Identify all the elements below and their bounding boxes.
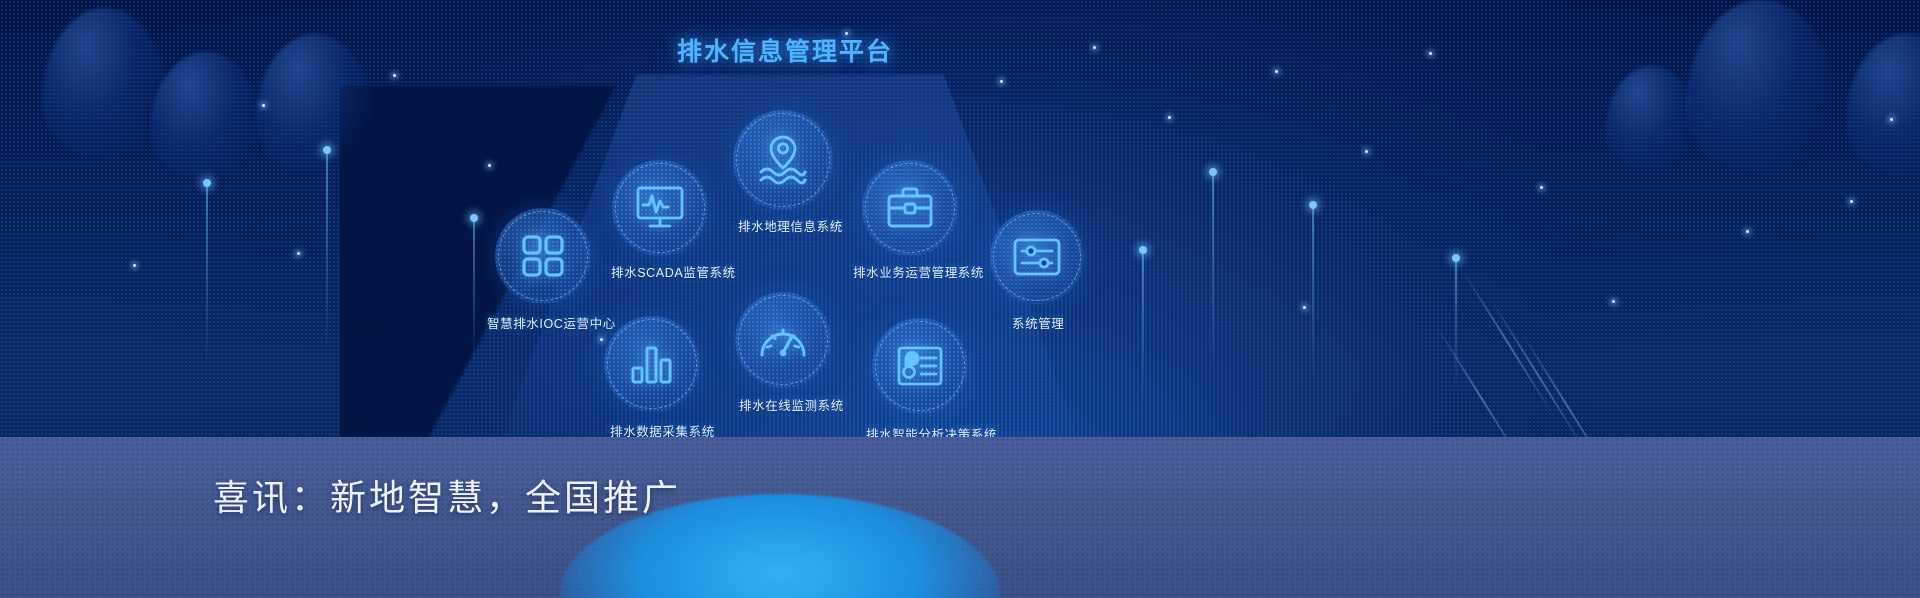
node-label-scada: 排水SCADA监管系统 [611,262,736,281]
decor-star [1168,116,1171,119]
decor-star [1850,200,1853,203]
system-node-sysadmin[interactable] [990,210,1084,304]
node-label-sysadmin: 系统管理 [1012,313,1064,332]
decor-star [600,338,603,341]
system-node-scada[interactable] [612,160,708,256]
system-node-collect[interactable] [604,316,700,412]
decor-star [393,74,396,77]
decor-light-stalk [1455,258,1457,388]
decor-star [133,264,136,267]
node-label-gis: 排水地理信息系统 [738,216,843,235]
decor-streak [1489,298,1586,452]
monitor-ecg-icon [612,160,708,256]
system-node-online[interactable] [735,292,831,388]
decor-star [1275,70,1278,73]
dashboard-hero: 排水信息管理平台 智慧排水IOC运营中心 排水SC [0,0,1920,598]
decor-light-stalk [326,150,328,346]
page-title: 排水信息管理平台 [0,32,1570,68]
gauge-icon [735,292,831,388]
decor-star [297,252,300,255]
briefcase-icon [862,160,958,256]
report-pie-icon [872,318,968,414]
system-node-gis[interactable] [733,110,833,210]
decor-dome [42,8,168,158]
node-label-ioc: 智慧排水IOC运营中心 [487,313,616,332]
system-node-ioc[interactable] [495,208,591,304]
decor-light-stalk [206,183,208,361]
decor-dome [1846,34,1920,176]
decor-star [1612,300,1615,303]
decor-light-stalk [473,218,475,358]
announcement-banner: 喜讯：新地智慧，全国推广 [0,437,1920,598]
decor-streak [1459,266,1556,420]
decor-dome [1606,66,1698,170]
bar-chart-icon [604,316,700,412]
decor-star [488,164,491,167]
decor-dome [150,52,262,180]
node-label-business: 排水业务运营管理系统 [853,262,984,281]
decor-star [1746,230,1749,233]
location-water-icon [733,110,833,210]
decor-light-stalk [1212,172,1214,368]
sliders-icon [990,210,1084,304]
decor-light-stalk [1142,250,1144,400]
decor-star [1000,80,1003,83]
decor-star [262,104,265,107]
system-node-business[interactable] [862,160,958,256]
grid-icon [495,208,591,304]
decor-star [1303,306,1306,309]
node-label-online: 排水在线监测系统 [739,395,844,414]
decor-dome [1686,0,1836,172]
decor-star [1890,118,1893,121]
decor-star [1540,186,1543,189]
decor-light-stalk [1312,205,1314,377]
announcement-text: 喜讯：新地智慧，全国推广 [213,469,681,521]
system-node-analysis[interactable] [872,318,968,414]
decor-star [1365,150,1368,153]
